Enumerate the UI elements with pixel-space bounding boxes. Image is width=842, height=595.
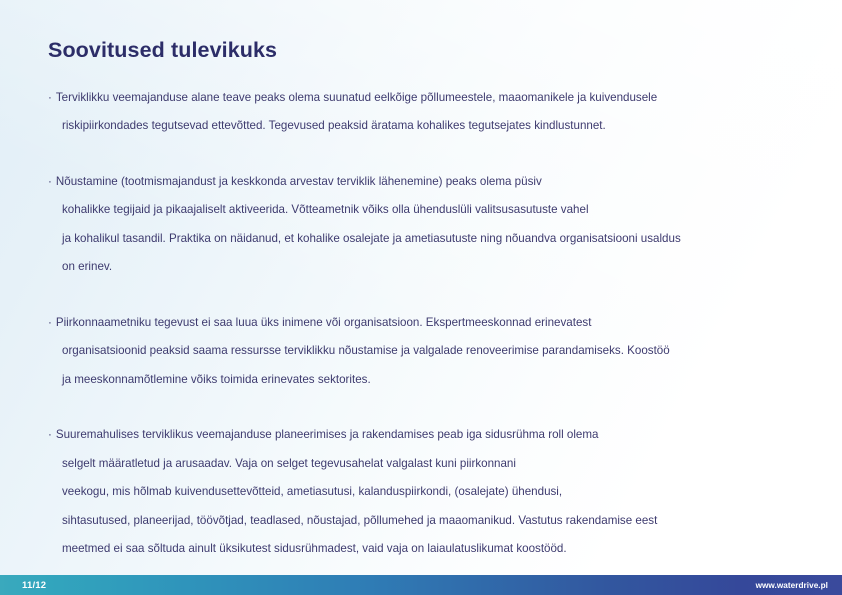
bullet-marker-icon: · [48,316,52,329]
bullet-wrap-line: kohalikke tegijaid ja pikaajaliselt akti… [48,196,804,225]
slide-footer: 11/12 www.waterdrive.pl [0,575,842,595]
bullet-line-text: kohalikke tegijaid ja pikaajaliselt akti… [62,203,589,216]
bullet-marker-icon: · [48,175,52,188]
slide: Soovitused tulevikuks ·Terviklikku veema… [0,0,842,595]
bullet-first-line: ·Nõustamine (tootmismajandust ja keskkon… [48,168,804,197]
bullet-marker-icon: · [48,428,52,441]
page-number: 11/12 [22,580,46,591]
bullet-line-text: sihtasutused, planeerijad, töövõtjad, te… [62,514,657,527]
bullet-wrap-line: sihtasutused, planeerijad, töövõtjad, te… [48,507,804,536]
footer-url[interactable]: www.waterdrive.pl [756,581,828,590]
bullet-line-text: on erinev. [62,260,112,273]
bullet-marker-icon: · [48,91,52,104]
bullet-block: ·Nõustamine (tootmismajandust ja keskkon… [48,168,804,282]
bullet-first-line: ·Piirkonnaametniku tegevust ei saa luua … [48,309,804,338]
bullet-line-text: meetmed ei saa sõltuda ainult üksikutest… [62,542,567,555]
bullet-wrap-line: meetmed ei saa sõltuda ainult üksikutest… [48,535,804,564]
bullet-block: ·Piirkonnaametniku tegevust ei saa luua … [48,309,804,395]
bullet-line-text: Terviklikku veemajanduse alane teave pea… [56,91,657,104]
bullet-line-text: Piirkonnaametniku tegevust ei saa luua ü… [56,316,592,329]
bullet-wrap-line: organisatsioonid peaksid saama ressursse… [48,337,804,366]
bullet-first-line: ·Terviklikku veemajanduse alane teave pe… [48,84,804,113]
bullet-line-text: veekogu, mis hõlmab kuivendusettevõtteid… [62,485,562,498]
bullet-line-text: selgelt määratletud ja arusaadav. Vaja o… [62,457,516,470]
bullet-line-text: Nõustamine (tootmismajandust ja keskkond… [56,175,542,188]
bullet-line-text: riskipiirkondades tegutsevad ettevõtted.… [62,119,606,132]
page-title: Soovitused tulevikuks [48,38,804,64]
bullet-wrap-line: ja meeskonnamõtlemine võiks toimida erin… [48,366,804,395]
bullet-wrap-line: veekogu, mis hõlmab kuivendusettevõtteid… [48,478,804,507]
bullet-first-line: ·Suuremahulises terviklikus veemajanduse… [48,421,804,450]
bullet-wrap-line: selgelt määratletud ja arusaadav. Vaja o… [48,450,804,479]
bullet-line-text: Suuremahulises terviklikus veemajanduse … [56,428,599,441]
bullet-list: ·Terviklikku veemajanduse alane teave pe… [48,84,804,564]
slide-content: Soovitused tulevikuks ·Terviklikku veema… [0,0,842,575]
bullet-block: ·Suuremahulises terviklikus veemajanduse… [48,421,804,564]
bullet-line-text: ja kohalikul tasandil. Praktika on näida… [62,232,681,245]
bullet-wrap-line: riskipiirkondades tegutsevad ettevõtted.… [48,112,804,141]
bullet-wrap-line: ja kohalikul tasandil. Praktika on näida… [48,225,804,254]
bullet-wrap-line: on erinev. [48,253,804,282]
bullet-line-text: organisatsioonid peaksid saama ressursse… [62,344,670,357]
bullet-line-text: ja meeskonnamõtlemine võiks toimida erin… [62,373,371,386]
bullet-block: ·Terviklikku veemajanduse alane teave pe… [48,84,804,141]
